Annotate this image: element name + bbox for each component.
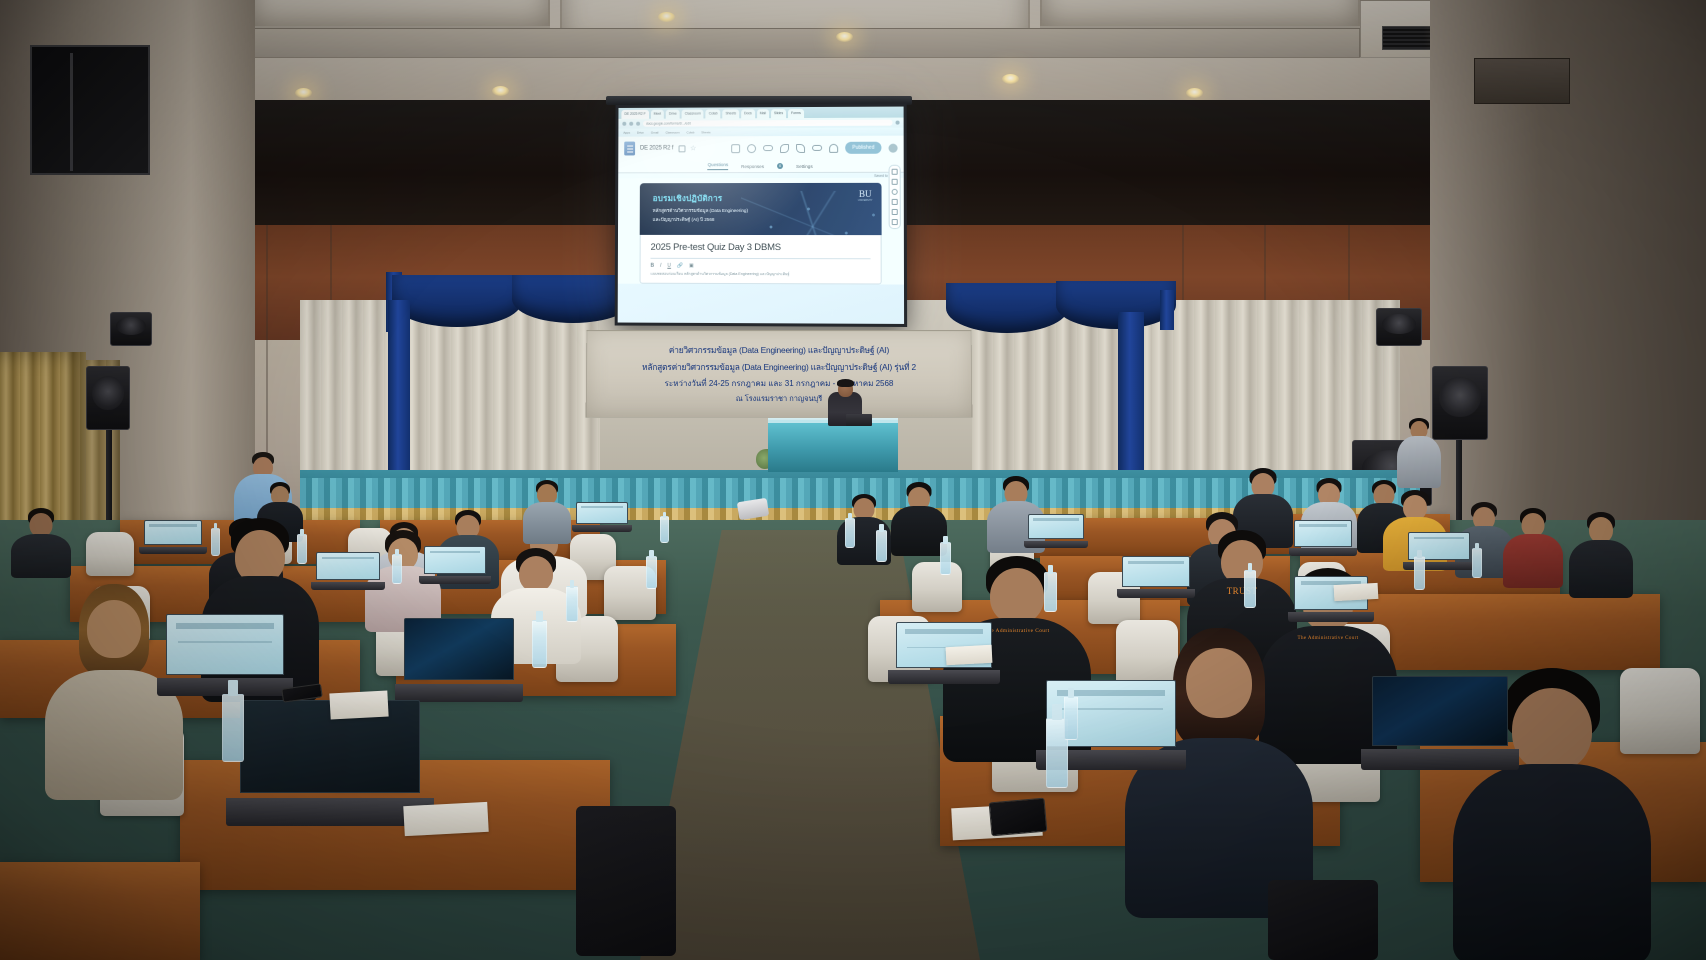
browser-tab[interactable]: Forms	[788, 109, 804, 118]
laptop-foreground-left-2[interactable]	[404, 618, 514, 702]
browser-tab[interactable]: Docs	[741, 109, 755, 118]
profile-avatar-icon[interactable]	[896, 121, 900, 125]
reload-icon[interactable]	[636, 122, 640, 126]
ceiling-panel-3	[250, 28, 1360, 58]
downlight-2	[492, 86, 509, 96]
forms-tab-bar: Questions Responses 0 Settings	[618, 160, 904, 174]
browser-tab[interactable]: Drive	[666, 110, 680, 119]
add-collaborator-icon[interactable]	[829, 143, 838, 152]
presenter-hair	[837, 379, 854, 387]
water-bottle	[222, 694, 244, 762]
paper-sheet	[403, 802, 488, 836]
responses-count-badge: 0	[777, 163, 783, 169]
laptop-screen-quiz	[166, 614, 284, 675]
conference-room-photo: DE 2025 R2 F Meet Drive Classroom Colab …	[0, 0, 1706, 960]
pa-speaker-left-upper	[110, 312, 152, 346]
water-bottle	[845, 518, 855, 548]
left-column-dark-panel	[30, 45, 150, 175]
person-left-6	[522, 480, 572, 540]
laptop-screen-dark	[404, 618, 514, 680]
laptop-screen	[576, 502, 628, 524]
laptop-screen	[144, 520, 202, 545]
downlight-3	[836, 32, 853, 42]
pa-speaker-right-upper	[1376, 308, 1422, 346]
head	[1186, 648, 1252, 718]
laptop[interactable]	[144, 520, 202, 554]
water-bottle	[660, 516, 669, 543]
add-question-icon[interactable]	[892, 169, 898, 175]
stage-banner-line-2: หลักสูตรค่ายวิศวกรรมข้อมูล (Data Enginee…	[642, 360, 916, 374]
blue-curtain-drop-left-tail	[388, 300, 410, 490]
ceiling-coffer-right	[1040, 0, 1360, 28]
torso	[1503, 534, 1563, 588]
add-image-icon[interactable]	[892, 199, 898, 205]
laptop-base	[572, 525, 632, 532]
redo-icon[interactable]	[796, 143, 805, 152]
forward-arrow-icon[interactable]	[629, 122, 633, 126]
link-icon[interactable]: 🔗	[677, 263, 683, 269]
downlight-4	[1002, 74, 1019, 84]
water-bottle	[566, 586, 578, 622]
avatar[interactable]	[889, 143, 898, 152]
downlight-8	[658, 12, 675, 22]
water-bottle	[1244, 570, 1256, 608]
undo-icon[interactable]	[780, 144, 789, 153]
torso	[1569, 540, 1633, 598]
water-bottle	[211, 528, 220, 556]
blue-swag-4	[1056, 281, 1176, 329]
university-logo-mark: BU	[858, 189, 872, 199]
tab-settings[interactable]: Settings	[796, 163, 813, 168]
form-description-input[interactable]: แบบทดสอบก่อนเรียน หลักสูตรด้านวิศวกรรมข้…	[650, 272, 870, 278]
jacket-text-admin-court-1: The Administrative Court	[985, 628, 1050, 634]
laptop-base	[1117, 589, 1196, 598]
bold-icon[interactable]: B	[650, 263, 654, 269]
laptop[interactable]	[1122, 556, 1190, 598]
laptop-screen	[1028, 514, 1084, 539]
laptop-base	[1361, 749, 1519, 770]
bookmark-item[interactable]: Apps	[623, 131, 630, 135]
stage-banner-line-4: ณ โรงแรมราชา กาญจนบุรี	[736, 393, 822, 405]
laptop-screen	[424, 546, 486, 574]
tab-responses[interactable]: Responses	[741, 164, 764, 169]
laptop[interactable]	[424, 546, 486, 584]
bookmark-item[interactable]: Classroom	[665, 130, 679, 134]
wall-equipment-box	[1474, 58, 1570, 104]
browser-tab-strip: DE 2025 R2 F Meet Drive Classroom Colab …	[618, 107, 903, 119]
add-video-icon[interactable]	[892, 209, 898, 215]
laptop-screen	[1122, 556, 1190, 587]
chair	[86, 532, 134, 576]
move-to-folder-icon[interactable]	[678, 145, 685, 152]
theme-palette-icon[interactable]	[731, 144, 740, 153]
banner-subheading-2: และปัญญาประดิษฐ์ (AI) ปี 2568	[653, 216, 748, 223]
forms-app-header: DE 2025 R2 f ☆ Published	[618, 136, 903, 161]
url-input[interactable]: docs.google.com/forms/d/.../edit	[643, 119, 892, 127]
water-bottle	[876, 530, 887, 562]
water-bottle	[1064, 696, 1078, 740]
forms-add-item-sidebar	[889, 165, 901, 229]
laptop-base	[1289, 548, 1356, 556]
speaker-stand-left	[106, 430, 112, 520]
present-icon[interactable]	[812, 145, 822, 151]
laptop-base	[419, 576, 491, 584]
projected-browser: DE 2025 R2 F Meet Drive Classroom Colab …	[618, 107, 904, 324]
paper-sheet	[1334, 583, 1379, 601]
add-section-icon[interactable]	[892, 219, 898, 225]
bookmark-item[interactable]: Colab	[687, 130, 695, 134]
pa-speaker-left-lower	[86, 366, 130, 430]
publish-button[interactable]: Published	[845, 142, 881, 154]
underline-icon[interactable]: U	[667, 263, 671, 269]
banner-text-block: อบรมเชิงปฏิบัติการ หลักสูตรด้านวิศวกรรมข…	[653, 192, 748, 223]
head	[519, 556, 553, 592]
downlight-5	[1186, 88, 1203, 98]
head	[1512, 688, 1592, 772]
stage-banner: ค่ายวิศวกรรมข้อมูล (Data Engineering) แล…	[586, 330, 973, 418]
import-questions-icon[interactable]	[892, 179, 898, 185]
torso	[1397, 436, 1441, 488]
water-bottle	[1044, 572, 1057, 612]
laptop[interactable]	[1028, 514, 1084, 548]
laptop-screen	[316, 552, 380, 580]
paper-sheet	[946, 645, 993, 665]
tab-questions[interactable]: Questions	[708, 162, 729, 170]
laptop[interactable]	[1294, 520, 1352, 556]
head	[87, 600, 141, 658]
form-title-card[interactable]: 2025 Pre-test Quiz Day 3 DBMS B I U 🔗 ▣ …	[640, 235, 882, 285]
form-header-banner-image: อบรมเชิงปฏิบัติการ หลักสูตรด้านวิศวกรรมข…	[640, 183, 882, 235]
stage-banner-line-3: ระหว่างวันที่ 24-25 กรกฎาคม และ 31 กรกฎา…	[665, 377, 894, 390]
laptop-base	[1288, 612, 1374, 622]
person-right-9-red	[1502, 508, 1564, 580]
blue-swag-3	[946, 283, 1068, 333]
add-title-icon[interactable]	[892, 189, 898, 195]
person-right-2	[890, 482, 948, 552]
form-document-title[interactable]: DE 2025 R2 f	[640, 145, 673, 151]
forms-canvas: อบรมเชิงปฏิบัติการ หลักสูตรด้านวิศวกรรมข…	[618, 178, 904, 285]
laptop-foreground-left[interactable]	[166, 614, 284, 696]
back-arrow-icon[interactable]	[622, 122, 626, 126]
water-bottle	[532, 620, 547, 668]
downlight-1	[295, 88, 312, 98]
forms-toolbar: Published	[731, 142, 897, 155]
google-forms-logo-icon	[624, 142, 635, 156]
laptop-screen-dark	[1372, 676, 1508, 746]
browser-tab[interactable]: Slides	[771, 109, 786, 118]
laptop[interactable]	[316, 552, 380, 590]
water-bottle	[1472, 548, 1482, 578]
stage-banner-line-1: ค่ายวิศวกรรมข้อมูล (Data Engineering) แล…	[669, 343, 889, 357]
browser-tab[interactable]: Sheets	[722, 109, 739, 118]
banner-subheading-1: หลักสูตรด้านวิศวกรรมข้อมูล (Data Enginee…	[653, 208, 748, 215]
laptop-base	[1024, 541, 1089, 548]
water-bottle	[297, 534, 307, 564]
bookmark-item[interactable]: Gmail	[651, 131, 659, 135]
bookmark-item[interactable]: Drive	[637, 131, 644, 135]
preview-eye-icon[interactable]	[747, 144, 756, 153]
laptop-base	[888, 670, 999, 684]
water-bottle	[1414, 556, 1425, 590]
person-right-10	[1568, 512, 1634, 590]
image-icon[interactable]: ▣	[689, 263, 694, 269]
browser-tab[interactable]: Classroom	[682, 110, 704, 119]
projection-screen: DE 2025 R2 F Meet Drive Classroom Colab …	[615, 104, 907, 327]
university-logo: BU UNIVERSITY	[858, 189, 873, 202]
italic-icon[interactable]: I	[660, 263, 661, 269]
divider	[651, 258, 871, 259]
water-bottle	[392, 554, 402, 584]
ceiling-coffer-left	[250, 0, 550, 28]
person-left-1	[10, 508, 72, 574]
backpack	[576, 806, 676, 956]
paper-sheet	[329, 691, 388, 720]
browser-tab[interactable]: Mail	[757, 109, 769, 118]
star-icon[interactable]: ☆	[690, 145, 696, 152]
university-logo-sub: UNIVERSITY	[858, 199, 872, 202]
blue-curtain-drop-right	[1160, 290, 1174, 330]
laptop-foreground-far-right[interactable]	[1372, 676, 1508, 770]
person-standing-far-right	[1396, 418, 1442, 484]
browser-tab[interactable]: Meet	[651, 110, 664, 119]
podium	[768, 420, 898, 472]
water-bottle	[646, 556, 657, 589]
laptop[interactable]	[576, 502, 628, 532]
banner-heading: อบรมเชิงปฏิบัติการ	[653, 192, 748, 205]
browser-tab-active[interactable]: DE 2025 R2 F	[621, 110, 648, 119]
blue-swag-1	[392, 275, 522, 327]
laptop-base	[139, 547, 206, 554]
laptop-screen	[1294, 520, 1352, 547]
torso	[523, 502, 571, 544]
torso	[11, 534, 71, 578]
bookmark-item[interactable]: Sheets	[701, 130, 710, 134]
water-bottle	[940, 542, 951, 575]
torso	[1453, 764, 1651, 960]
table-row-left-8	[0, 862, 200, 960]
smartphone[interactable]	[989, 798, 1048, 837]
link-icon[interactable]	[763, 145, 773, 151]
form-title-input[interactable]: 2025 Pre-test Quiz Day 3 DBMS	[651, 242, 871, 253]
torso	[891, 506, 947, 556]
laptop-base	[311, 582, 385, 590]
bag-under-table	[1268, 880, 1378, 960]
head	[990, 568, 1044, 624]
presenter-laptop	[846, 414, 872, 426]
browser-tab[interactable]: Colab	[706, 109, 721, 118]
